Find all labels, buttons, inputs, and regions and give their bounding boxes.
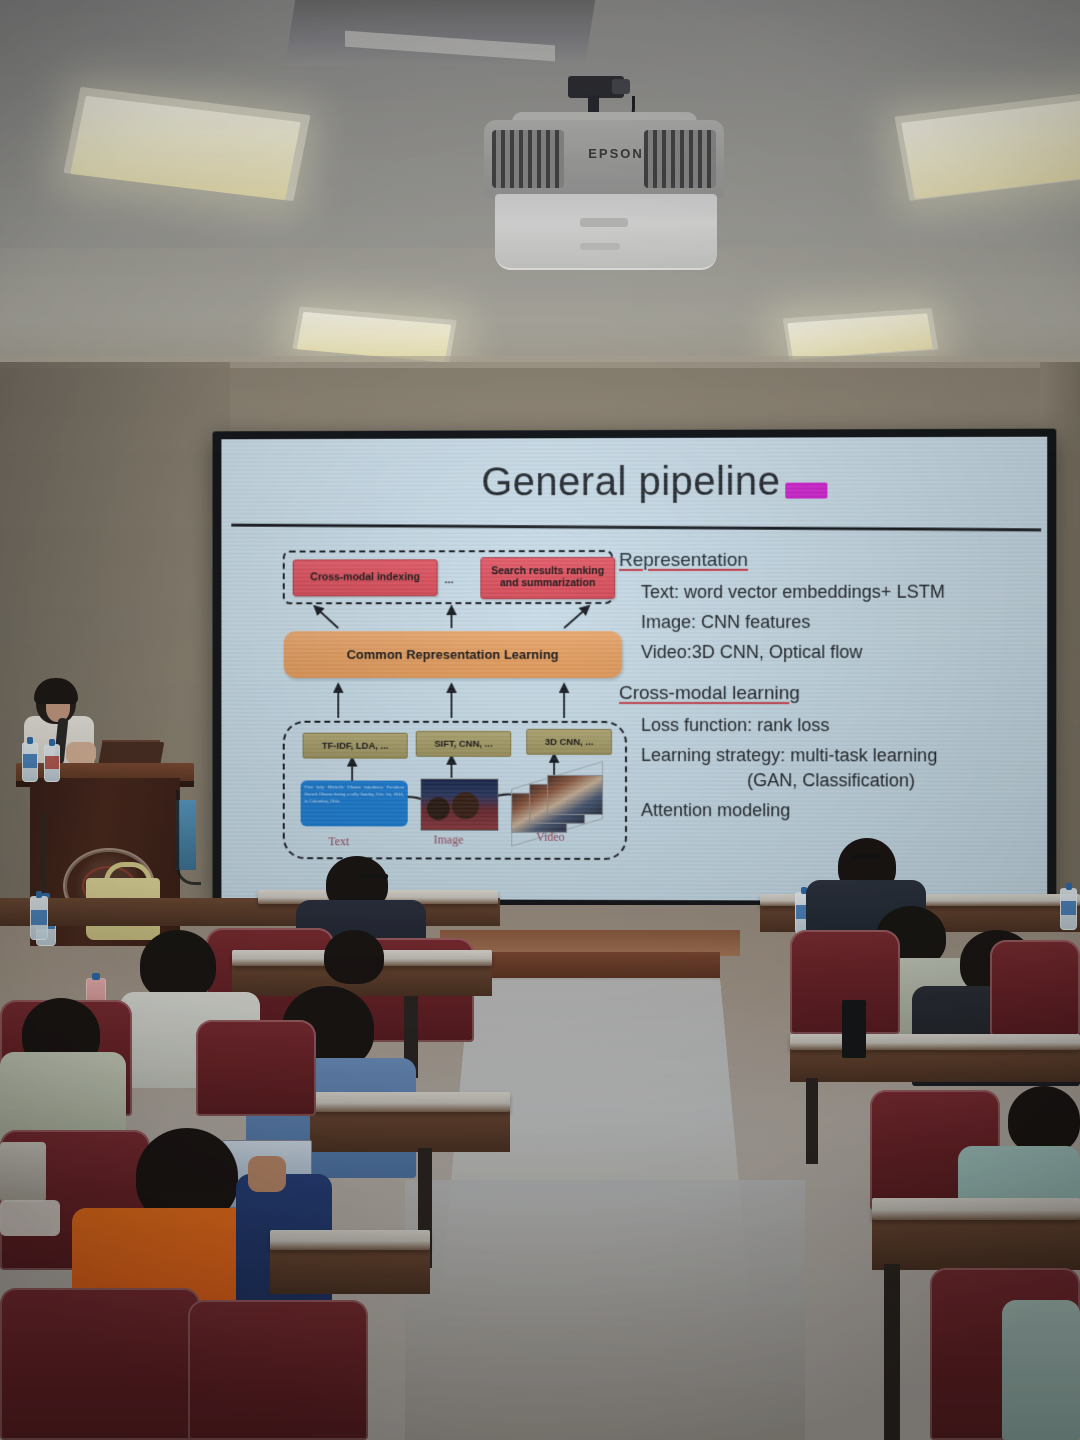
seat xyxy=(0,1288,200,1440)
projector-brand-label: EPSON xyxy=(583,146,649,162)
lecture-hall-photo: EPSON General pipeline xyxy=(0,0,1080,1440)
application-layer-group: Cross-modal indexing ... Search results … xyxy=(283,550,613,604)
text-modality-sample: First lady Michelle Obama introduces Pre… xyxy=(301,780,408,826)
desk-row-center-3 xyxy=(310,1108,510,1152)
desk-surface xyxy=(790,1034,1080,1050)
projection-screen: General pipeline xyxy=(221,437,1047,902)
desk-row-center-4 xyxy=(270,1246,430,1294)
label-video-modality: Video xyxy=(536,830,565,845)
label-text-modality: Text xyxy=(328,834,349,849)
box-video-features: 3D CNN, ... xyxy=(526,729,612,755)
projector-vent-right xyxy=(644,130,716,188)
slide-title-accent-bar xyxy=(785,483,827,499)
heading-representation: Representation xyxy=(619,549,1041,572)
desk-surface xyxy=(270,1230,430,1250)
box-cross-modal-indexing: Cross-modal indexing xyxy=(293,559,438,596)
audience-head xyxy=(324,930,384,984)
image-modality-thumbnail xyxy=(421,779,499,831)
box-image-features: SIFT, CNN, ... xyxy=(416,731,512,757)
water-bottle xyxy=(22,742,38,782)
heading-cross-modal-learning: Cross-modal learning xyxy=(619,683,1041,705)
cup-on-desk xyxy=(0,1142,46,1202)
item-learning-strategy-sub: (GAN, Classification) xyxy=(747,770,1041,792)
desk-leg xyxy=(806,1078,818,1164)
stage-platform-face xyxy=(460,952,720,980)
power-cable xyxy=(176,790,201,885)
ellipsis-label: ... xyxy=(445,574,454,586)
audience-head xyxy=(140,930,216,1000)
seat xyxy=(990,940,1080,1036)
projection-screen-bezel: General pipeline xyxy=(213,429,1057,910)
projector-lower-shell xyxy=(495,194,717,270)
item-loss-function: Loss function: rank loss xyxy=(641,715,1041,737)
video-frame-3 xyxy=(547,775,603,815)
presenter-arm xyxy=(66,742,96,764)
laptop-closed xyxy=(842,1000,866,1058)
tissue xyxy=(0,1200,60,1236)
projector-lens-slot xyxy=(580,218,628,227)
slide-title-divider xyxy=(231,524,1041,532)
desk-leg xyxy=(884,1264,900,1440)
center-aisle-lower xyxy=(405,1180,805,1440)
spacer xyxy=(619,673,1041,683)
label-image-modality: Image xyxy=(434,833,464,848)
water-bottle xyxy=(44,744,60,782)
box-search-results-ranking: Search results ranking and summarization xyxy=(480,557,615,599)
box-text-features: TF-IDF, LDA, ... xyxy=(303,733,408,759)
slide-right-column: Representation Text: word vector embeddi… xyxy=(619,549,1041,831)
audience-head xyxy=(1008,1086,1080,1154)
item-representation-text: Text: word vector embeddings+ LSTM xyxy=(641,582,1041,604)
glasses-icon xyxy=(360,874,388,879)
water-bottle xyxy=(30,896,48,940)
item-learning-strategy: Learning strategy: multi-task learning xyxy=(641,745,1041,767)
water-bottle xyxy=(1060,888,1077,930)
modality-layer-group: TF-IDF, LDA, ... SIFT, CNN, ... 3D CNN, … xyxy=(283,721,627,860)
audience-torso xyxy=(1002,1300,1080,1440)
audience-hand xyxy=(248,1156,286,1192)
item-representation-video: Video:3D CNN, Optical flow xyxy=(641,642,1041,663)
item-representation-image: Image: CNN features xyxy=(641,612,1041,634)
glasses-icon xyxy=(852,854,882,859)
desk-surface xyxy=(872,1198,1080,1220)
seat xyxy=(196,1020,316,1116)
seat xyxy=(188,1300,368,1440)
slide-title: General pipeline xyxy=(481,460,780,506)
desk-surface xyxy=(310,1092,510,1112)
projector-vent-left xyxy=(492,130,564,188)
item-attention-modeling: Attention modeling xyxy=(641,800,1041,822)
projector-mount-knob xyxy=(612,79,630,94)
desk-row-right-2 xyxy=(790,1046,1080,1082)
desk-row-right-3 xyxy=(872,1216,1080,1270)
box-common-representation-learning: Common Representation Learning xyxy=(284,631,622,678)
projector-vent-slot xyxy=(580,243,620,250)
